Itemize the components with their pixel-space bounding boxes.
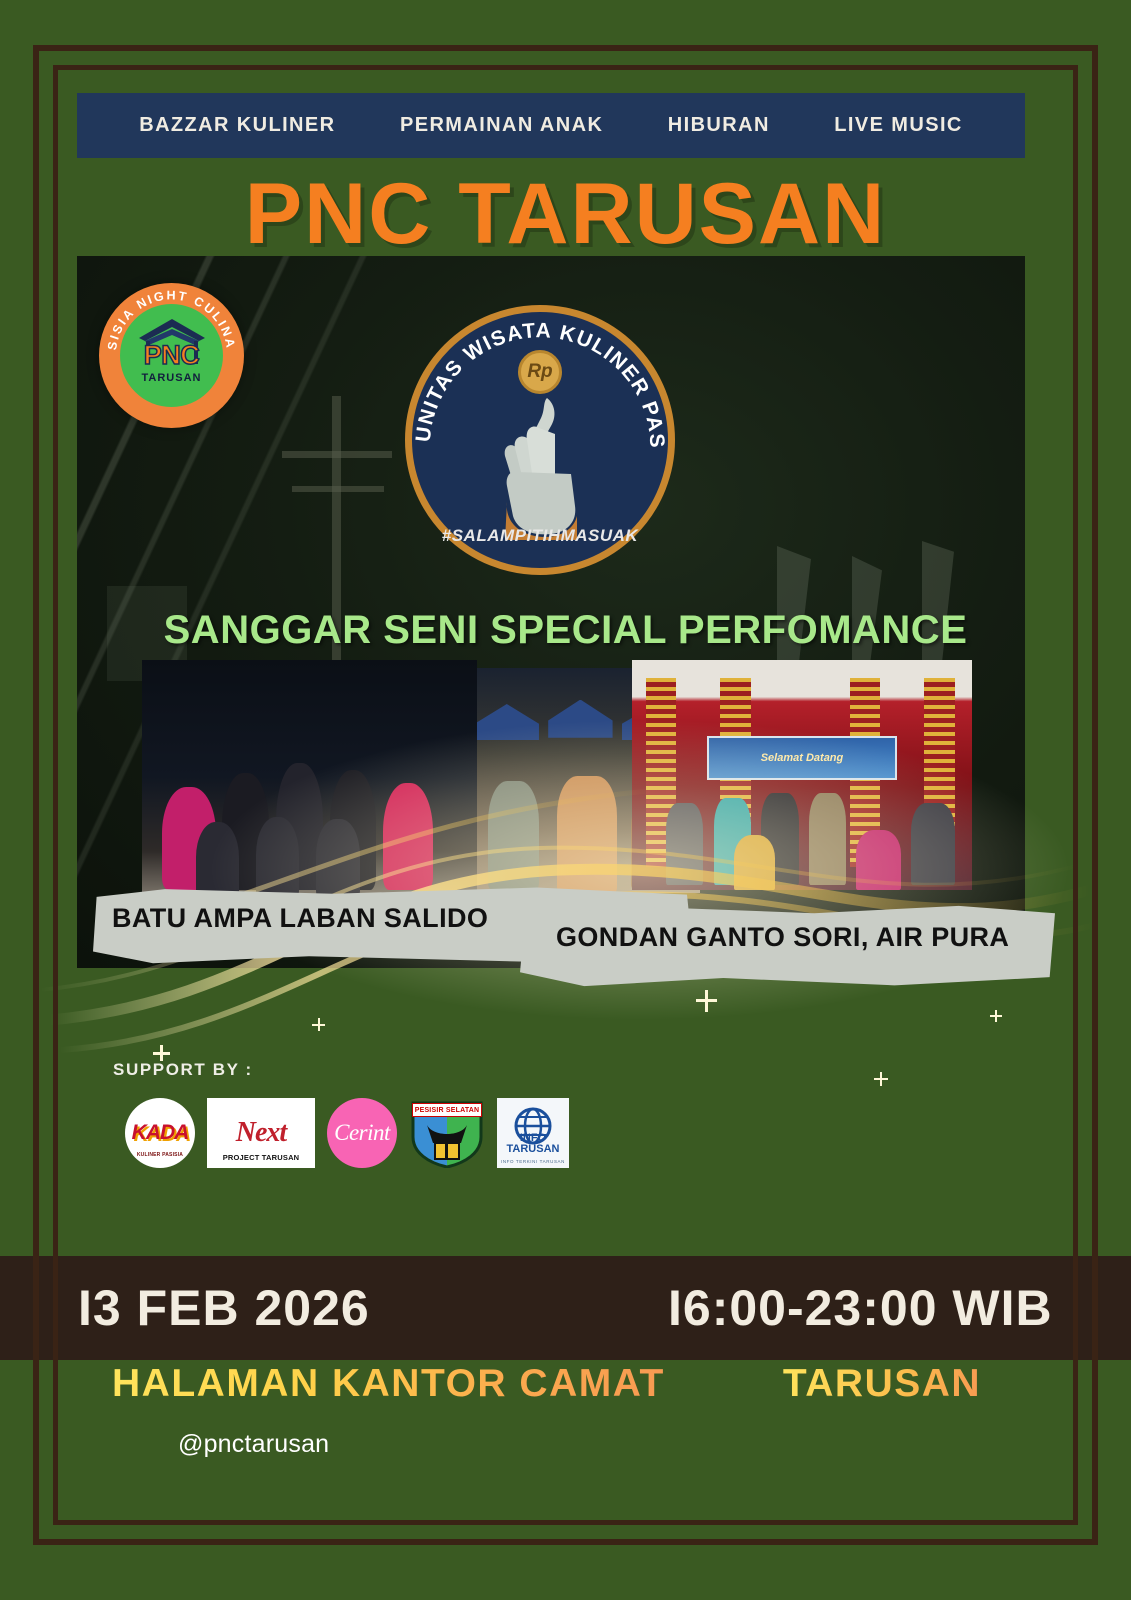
pnc-abbreviation: PNC xyxy=(144,340,200,371)
venue-place: HALAMAN KANTOR CAMAT xyxy=(112,1362,665,1406)
schedule-band: I3 FEB 2026 I6:00-23:00 WIB xyxy=(0,1256,1131,1360)
sparkle-decoration xyxy=(696,999,717,1002)
utility-crossarm xyxy=(282,451,392,458)
sparkle-decoration xyxy=(874,1078,888,1080)
performance-headline: SANGGAR SENI SPECIAL PERFOMANCE xyxy=(0,608,1131,653)
kada-wordmark: KADA xyxy=(132,1121,189,1145)
pnc-sublabel: TARUSAN xyxy=(142,372,202,384)
venue-town: TARUSAN xyxy=(783,1362,981,1406)
sparkle-decoration xyxy=(990,1015,1002,1017)
info-tarusan-sublabel: INFO TERKINI TARUSAN xyxy=(497,1159,569,1164)
welcome-banner: Selamat Datang xyxy=(707,736,897,780)
kwkp-hashtag: #SALAMPITIHMASUAK xyxy=(412,526,668,546)
sparkle-decoration xyxy=(705,990,708,1012)
sparkle-decoration xyxy=(153,1052,170,1055)
kwkp-logo-badge: KOMUNITAS WISATA KULINER PASISIA Rp #SAL… xyxy=(405,305,675,575)
page-title: PNC TARUSAN xyxy=(0,165,1131,264)
social-handle[interactable]: @pnctarusan xyxy=(178,1430,329,1459)
caption-batu-ampa-laban-salido: BATU AMPA LABAN SALIDO xyxy=(112,903,488,934)
sponsor-logo-cerint[interactable]: Cerint xyxy=(327,1098,397,1168)
support-by-label: SUPPORT BY : xyxy=(113,1060,253,1080)
sponsor-logo-row: KADA KULINER PASISIA Next PROJECT TARUSA… xyxy=(125,1098,569,1168)
cerint-wordmark: Cerint xyxy=(334,1120,390,1146)
info-tarusan-wordmark: INFO TARUSAN xyxy=(497,1133,569,1156)
event-date: I3 FEB 2026 xyxy=(78,1279,370,1337)
pnc-logo-badge: PASISIA NIGHT CULINARY KWKP PNC TARUSAN xyxy=(99,283,244,428)
event-poster: BAZZAR KULINER PERMAINAN ANAK HIBURAN LI… xyxy=(0,0,1131,1600)
sponsor-logo-pesisir-selatan[interactable]: PESISIR SELATAN xyxy=(409,1098,485,1168)
next-sublabel: PROJECT TARUSAN xyxy=(207,1153,315,1162)
performance-photo-right: Selamat Datang xyxy=(632,660,972,890)
rupiah-coin-icon: Rp xyxy=(518,350,562,394)
kada-sublabel: KULINER PASISIA xyxy=(125,1152,195,1158)
sponsor-logo-kada[interactable]: KADA KULINER PASISIA xyxy=(125,1098,195,1168)
header-item-bazzar-kuliner: BAZZAR KULINER xyxy=(139,114,335,137)
pesisir-selatan-band: PESISIR SELATAN xyxy=(412,1103,482,1117)
next-wordmark: Next xyxy=(236,1117,286,1149)
sparkle-decoration xyxy=(880,1072,882,1086)
header-item-live-music: LIVE MUSIC xyxy=(834,114,962,137)
sponsor-logo-next-project-tarusan[interactable]: Next PROJECT TARUSAN xyxy=(207,1098,315,1168)
utility-crossarm xyxy=(292,486,384,492)
venue-row: HALAMAN KANTOR CAMAT TARUSAN xyxy=(112,1362,1032,1406)
finger-heart-hand-icon xyxy=(477,390,603,540)
caption-gondan-ganto-sori-air-pura: GONDAN GANTO SORI, AIR PURA xyxy=(556,922,1009,953)
header-feature-bar: BAZZAR KULINER PERMAINAN ANAK HIBURAN LI… xyxy=(77,93,1025,158)
header-item-hiburan: HIBURAN xyxy=(668,114,770,137)
sparkle-decoration xyxy=(995,1010,997,1022)
sponsor-logo-info-tarusan[interactable]: INFO TARUSAN INFO TERKINI TARUSAN xyxy=(497,1098,569,1168)
pnc-inner-disc: PNC TARUSAN xyxy=(120,304,223,407)
header-item-permainan-anak: PERMAINAN ANAK xyxy=(400,114,603,137)
event-time: I6:00-23:00 WIB xyxy=(668,1279,1053,1337)
performance-photo-left xyxy=(142,660,477,905)
sparkle-decoration xyxy=(312,1024,325,1026)
sparkle-decoration xyxy=(318,1018,320,1031)
sparkle-decoration xyxy=(160,1045,163,1061)
